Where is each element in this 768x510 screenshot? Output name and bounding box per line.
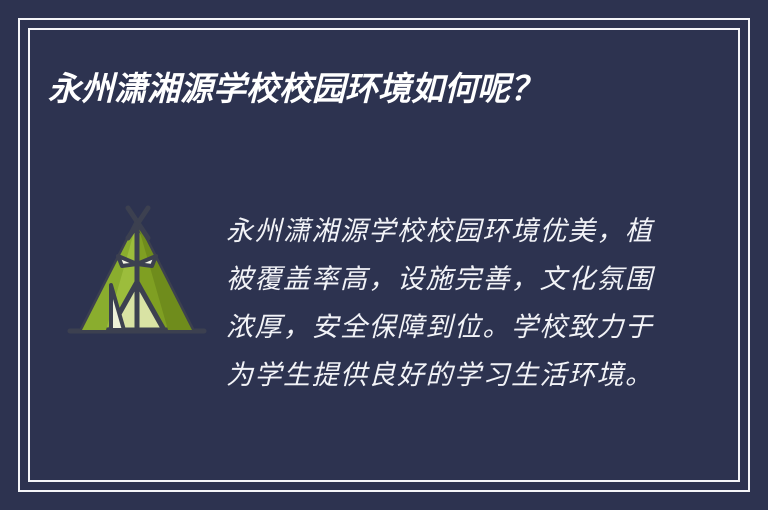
tent-illustration [62,200,212,350]
page-title: 永州潇湘源学校校园环境如何呢？ [48,62,678,116]
article-card: 永州潇湘源学校校园环境如何呢？ 永州潇湘源 [0,0,768,510]
tent-icon [62,200,212,350]
article-body-text: 永州潇湘源学校校园环境优美，植被覆盖率高，设施完善，文化氛围浓厚，安全保障到位。… [226,208,656,400]
